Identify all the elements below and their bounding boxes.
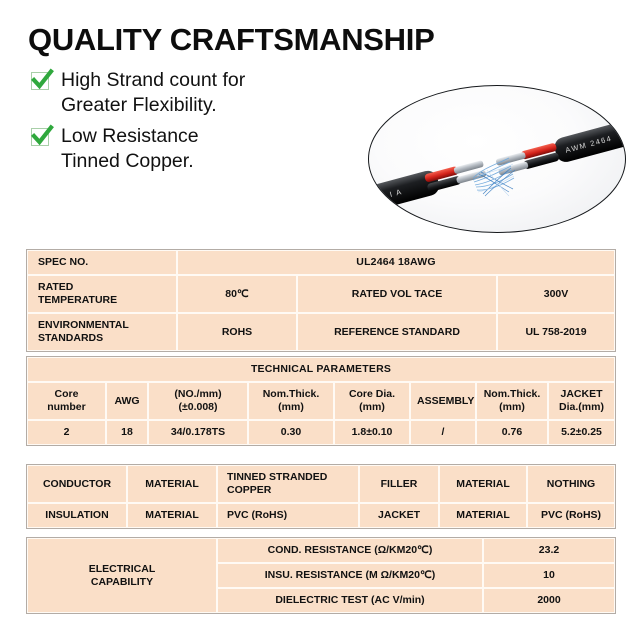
page-title: QUALITY CRAFTSMANSHIP <box>28 22 434 58</box>
conductor-value: TINNED STRANDED COPPER <box>217 465 359 503</box>
table-row: ELECTRICAL CAPABILITY COND. RESISTANCE (… <box>27 538 615 563</box>
feature-item: Low Resistance Tinned Copper. <box>30 124 360 174</box>
table-cell: 1.8±0.10 <box>334 420 410 445</box>
column-header: Core Dia.(mm) <box>334 382 410 420</box>
table-row: 2 18 34/0.178TS 0.30 1.8±0.10 / 0.76 5.2… <box>27 420 615 445</box>
rated-temperature-value: 80℃ <box>177 275 297 313</box>
environmental-value: ROHS <box>177 313 297 351</box>
reference-standard-value: UL 758-2019 <box>497 313 615 351</box>
insulation-attr: MATERIAL <box>127 503 217 528</box>
test-name: COND. RESISTANCE (Ω/KM20℃) <box>217 538 483 563</box>
cable-illustration: AWM I A AWM 2464 <box>369 86 626 233</box>
feature-line-2: Tinned Copper. <box>61 150 194 172</box>
column-header: Core number <box>27 382 106 420</box>
feature-item: High Strand count for Greater Flexibilit… <box>30 68 360 118</box>
feature-list: High Strand count for Greater Flexibilit… <box>30 68 360 180</box>
feature-line-2: Greater Flexibility. <box>61 94 217 116</box>
header-block: QUALITY CRAFTSMANSHIP High Strand count … <box>0 0 640 238</box>
jacket-label: JACKET <box>359 503 439 528</box>
oval-frame: AWM I A AWM 2464 <box>368 85 626 233</box>
table-row: RATED TEMPERATURE 80℃ RATED VOL TACE 300… <box>27 275 615 313</box>
test-name: INSU. RESISTANCE (M Ω/KM20℃) <box>217 563 483 588</box>
column-header: JACKET Dia.(mm) <box>548 382 615 420</box>
test-value: 2000 <box>483 588 615 613</box>
table-header-row: Core number AWG (NO./mm) (±0.008) Nom.Th… <box>27 382 615 420</box>
column-header: ASSEMBLY <box>410 382 476 420</box>
electrical-label-line-2: CAPABILITY <box>91 576 153 588</box>
check-icon <box>30 71 52 93</box>
test-value: 23.2 <box>483 538 615 563</box>
spec-no-value: UL2464 18AWG <box>177 250 615 275</box>
table-cell: 34/0.178TS <box>148 420 248 445</box>
test-name: DIELECTRIC TEST (AC V/min) <box>217 588 483 613</box>
jacket-attr: MATERIAL <box>439 503 527 528</box>
spec-table: SPEC NO. UL2464 18AWG RATED TEMPERATURE … <box>26 249 616 352</box>
filler-attr: MATERIAL <box>439 465 527 503</box>
table-row: ENVIRONMENTAL STANDARDS ROHS REFERENCE S… <box>27 313 615 351</box>
electrical-capability-table: ELECTRICAL CAPABILITY COND. RESISTANCE (… <box>26 537 616 614</box>
feature-text: Low Resistance Tinned Copper. <box>61 124 199 174</box>
rated-temperature-label: RATED TEMPERATURE <box>27 275 177 313</box>
table-cell: 5.2±0.25 <box>548 420 615 445</box>
table-cell: 0.76 <box>476 420 548 445</box>
technical-parameters-table: TECHNICAL PARAMETERS Core number AWG (NO… <box>26 356 616 446</box>
table-row: CONDUCTOR MATERIAL TINNED STRANDED COPPE… <box>27 465 615 503</box>
reference-standard-label: REFERENCE STANDARD <box>297 313 497 351</box>
table-cell: 18 <box>106 420 148 445</box>
feature-line-1: Low Resistance <box>61 125 199 147</box>
jacket-value: PVC (RoHS) <box>527 503 615 528</box>
electrical-capability-label: ELECTRICAL CAPABILITY <box>27 538 217 613</box>
environmental-label: ENVIRONMENTAL STANDARDS <box>27 313 177 351</box>
electrical-label-line-1: ELECTRICAL <box>89 563 156 575</box>
cable-cross-section-photo: AWM I A AWM 2464 <box>368 85 626 233</box>
feature-text: High Strand count for Greater Flexibilit… <box>61 68 245 118</box>
column-header: Nom.Thick.(mm) <box>248 382 334 420</box>
filler-value: NOTHING <box>527 465 615 503</box>
conductor-label: CONDUCTOR <box>27 465 127 503</box>
check-icon <box>30 127 52 149</box>
conductor-attr: MATERIAL <box>127 465 217 503</box>
insulation-value: PVC (RoHS) <box>217 503 359 528</box>
table-row: SPEC NO. UL2464 18AWG <box>27 250 615 275</box>
column-header: AWG <box>106 382 148 420</box>
table-row: TECHNICAL PARAMETERS <box>27 357 615 382</box>
rated-voltage-label: RATED VOL TACE <box>297 275 497 313</box>
feature-line-1: High Strand count for <box>61 69 245 91</box>
insulation-label: INSULATION <box>27 503 127 528</box>
test-value: 10 <box>483 563 615 588</box>
table-cell: 2 <box>27 420 106 445</box>
rated-voltage-value: 300V <box>497 275 615 313</box>
column-header: (NO./mm) (±0.008) <box>148 382 248 420</box>
technical-title: TECHNICAL PARAMETERS <box>27 357 615 382</box>
materials-table: CONDUCTOR MATERIAL TINNED STRANDED COPPE… <box>26 464 616 529</box>
spec-no-label: SPEC NO. <box>27 250 177 275</box>
filler-label: FILLER <box>359 465 439 503</box>
table-row: INSULATION MATERIAL PVC (RoHS) JACKET MA… <box>27 503 615 528</box>
table-cell: 0.30 <box>248 420 334 445</box>
table-cell: / <box>410 420 476 445</box>
column-header: Nom.Thick.(mm) <box>476 382 548 420</box>
